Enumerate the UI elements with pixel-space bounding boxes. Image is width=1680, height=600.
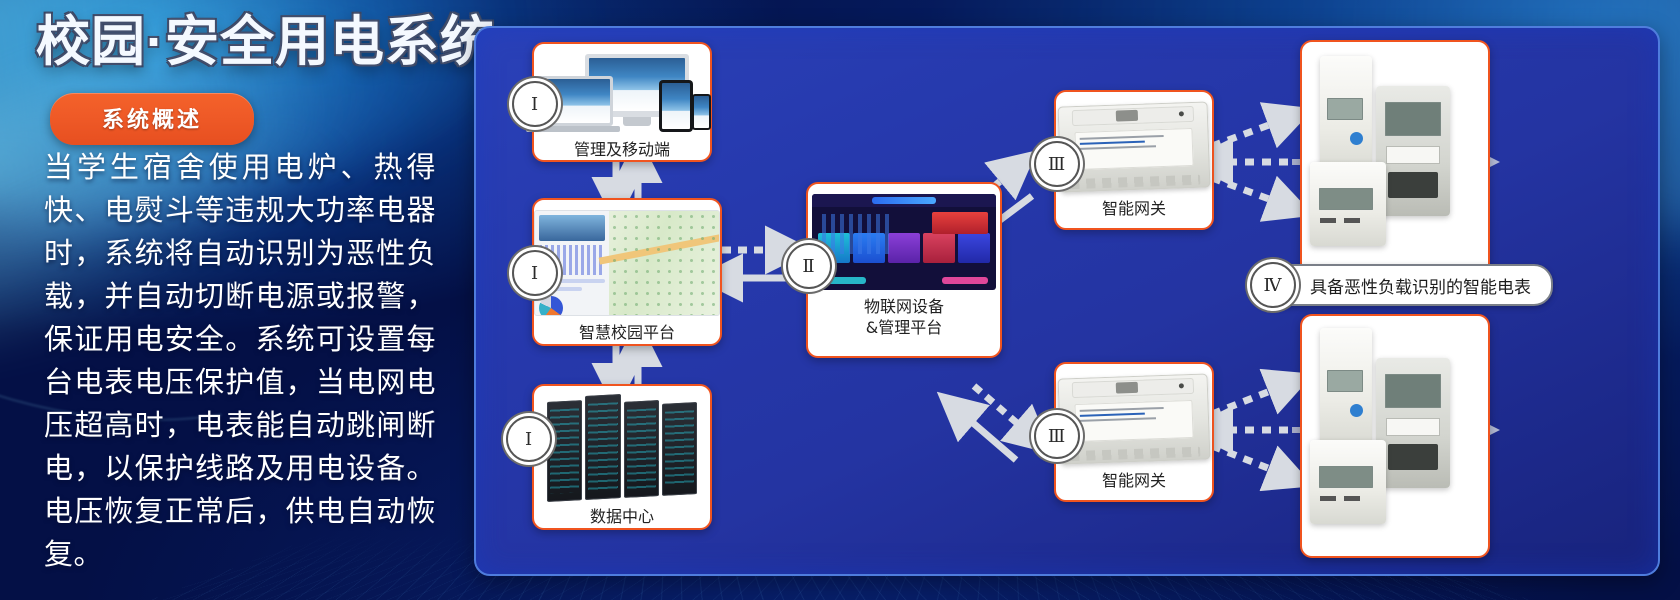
connector-iot-gateway-bottom	[958, 386, 1032, 460]
multi-device-icon	[533, 54, 711, 133]
smart-gateway-icon	[1058, 373, 1211, 464]
badge-campus-platform: Ⅰ	[512, 250, 558, 296]
iot-dashboard-screenshot	[812, 194, 996, 290]
section-pill-label: 系统概述	[50, 93, 254, 145]
badge-iot-platform: Ⅱ	[786, 243, 832, 289]
smart-meter-icon	[1310, 440, 1386, 524]
system-overview-description: 当学生宿舍使用电炉、热得快、电熨斗等违规大功率电器时，系统将自动识别为恶性负载，…	[44, 146, 436, 576]
smart-gateway-icon	[1058, 101, 1211, 192]
node-label: 智慧校园平台	[534, 322, 720, 343]
node-meters-bottom[interactable]	[1300, 314, 1490, 558]
poster-stage: 校园·安全用电系统 系统概述 当学生宿舍使用电炉、热得快、电熨斗等违规大功率电器…	[0, 0, 1680, 600]
badge-meter-callout: Ⅳ	[1250, 262, 1296, 308]
page-title: 校园·安全用电系统	[36, 14, 495, 71]
smart-meter-icon	[1320, 328, 1372, 448]
meter-group-bottom	[1302, 316, 1488, 556]
node-label-line2: &管理平台	[808, 317, 1000, 338]
badge-admin-mobile: Ⅰ	[512, 81, 558, 127]
node-iot-platform[interactable]: 物联网设备 &管理平台	[806, 182, 1002, 358]
node-label: 智能网关	[1056, 470, 1212, 491]
node-label: 管理及移动端	[534, 139, 710, 160]
meter-callout[interactable]: 具备恶性负载识别的智能电表	[1260, 264, 1553, 306]
badge-gateway-bottom: Ⅲ	[1034, 413, 1080, 459]
meter-group-top	[1302, 42, 1488, 282]
node-label: 智能网关	[1056, 198, 1212, 219]
smart-meter-icon	[1320, 56, 1372, 176]
node-admin-mobile[interactable]: 管理及移动端	[532, 42, 712, 162]
connector-campus-datacenter	[616, 346, 638, 384]
connector-admin-campus	[616, 162, 638, 198]
left-text-column: 校园·安全用电系统 系统概述 当学生宿舍使用电炉、热得快、电熨斗等违规大功率电器…	[0, 0, 470, 600]
node-data-center[interactable]: 数据中心	[532, 384, 712, 530]
node-label: 数据中心	[534, 506, 710, 527]
architecture-diagram-panel: 管理及移动端 Ⅰ 智慧校园平台 Ⅰ 数据中心 Ⅰ	[474, 26, 1660, 576]
connector-campus-iot	[722, 250, 788, 278]
smart-meter-icon	[1310, 162, 1386, 246]
node-campus-platform[interactable]: 智慧校园平台	[532, 198, 722, 346]
badge-gateway-top: Ⅲ	[1034, 141, 1080, 187]
node-label-line1: 物联网设备	[808, 296, 1000, 317]
campus-platform-screenshot	[534, 210, 720, 316]
node-meters-top[interactable]	[1300, 40, 1490, 284]
meter-callout-label: 具备恶性负载识别的智能电表	[1310, 273, 1531, 298]
smart-meter-icon	[1376, 86, 1450, 216]
data-center-racks-icon	[547, 390, 697, 502]
badge-data-center: Ⅰ	[506, 416, 552, 462]
smart-meter-icon	[1376, 358, 1450, 488]
